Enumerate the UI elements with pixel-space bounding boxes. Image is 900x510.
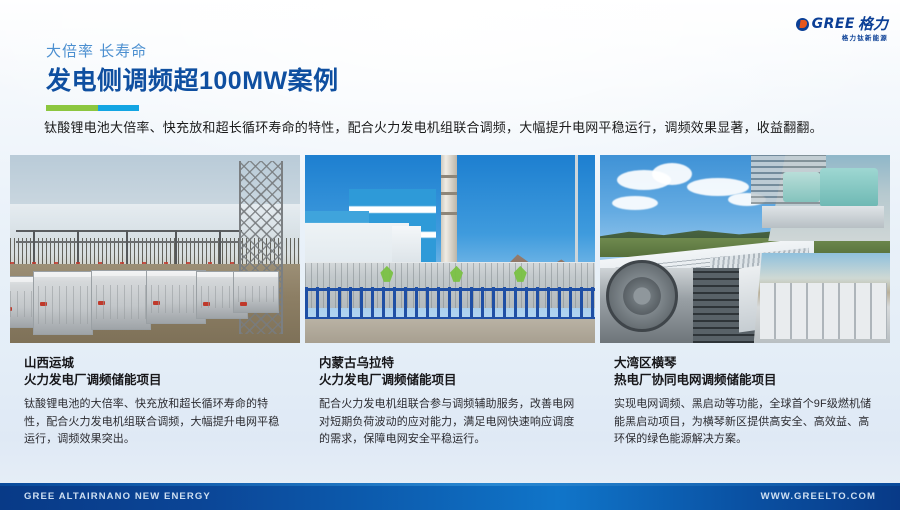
footer-company-name: GREE ALTAIRNANO NEW ENERGY xyxy=(24,491,211,502)
case-location: 大湾区横琴 xyxy=(614,355,876,372)
logo-subtitle: 格力钛新能源 xyxy=(842,36,888,43)
accent-bar-green xyxy=(46,105,98,111)
case-location: 山西运城 xyxy=(24,355,286,372)
case-description: 配合火力发电机组联合参与调频辅助服务，改善电网对短期负荷波动的应对能力，满足电网… xyxy=(319,396,581,449)
eyebrow-text: 大倍率 长寿命 xyxy=(46,44,339,59)
case-card[interactable]: 山西运城 火力发电厂调频储能项目 钛酸锂电池的大倍率、快充放和超长循环寿命的特性… xyxy=(10,155,300,460)
case-project-name: 火力发电厂调频储能项目 xyxy=(24,372,286,389)
gree-flame-icon xyxy=(796,18,809,31)
case-project-name: 火力发电厂调频储能项目 xyxy=(319,372,581,389)
case-card[interactable]: 大湾区横琴 热电厂协同电网调频储能项目 实现电网调频、黑启动等功能，全球首个9F… xyxy=(600,155,890,460)
case-card-row: 山西运城 火力发电厂调频储能项目 钛酸锂电池的大倍率、快充放和超长循环寿命的特性… xyxy=(10,155,890,460)
case-card-body: 大湾区横琴 热电厂协同电网调频储能项目 实现电网调频、黑启动等功能，全球首个9F… xyxy=(600,343,890,449)
logo-word: GREE xyxy=(812,17,855,31)
accent-bar-blue xyxy=(98,105,139,111)
case-location: 内蒙古乌拉特 xyxy=(319,355,581,372)
case-card-body: 山西运城 火力发电厂调频储能项目 钛酸锂电池的大倍率、快充放和超长循环寿命的特性… xyxy=(10,343,300,449)
logo-cn-mark: 格力 xyxy=(858,17,888,32)
logo-wordmark-row: GREE 格力 xyxy=(796,16,888,33)
case-card-body: 内蒙古乌拉特 火力发电厂调频储能项目 配合火力发电机组联合参与调频辅助服务，改善… xyxy=(305,343,595,449)
lead-paragraph: 钛酸锂电池大倍率、快充放和超长循环寿命的特性，配合火力发电机组联合调频，大幅提升… xyxy=(44,118,864,138)
gree-logo: GREE 格力 格力钛新能源 xyxy=(782,14,888,44)
case-project-name: 热电厂协同电网调频储能项目 xyxy=(614,372,876,389)
footer-website-url[interactable]: WWW.GREELTO.COM xyxy=(761,491,876,502)
footer-bar: GREE ALTAIRNANO NEW ENERGY WWW.GREELTO.C… xyxy=(0,483,900,510)
slide-root: GREE 格力 格力钛新能源 大倍率 长寿命 发电侧调频超100MW案例 钛酸锂… xyxy=(0,0,900,510)
case-description: 钛酸锂电池的大倍率、快充放和超长循环寿命的特性，配合火力发电机组联合调频，大幅提… xyxy=(24,396,286,449)
title-block: 大倍率 长寿命 发电侧调频超100MW案例 xyxy=(46,44,339,111)
inner-mongolia-wulate-plant-photo xyxy=(305,155,595,343)
case-card[interactable]: 内蒙古乌拉特 火力发电厂调频储能项目 配合火力发电机组联合参与调频辅助服务，改善… xyxy=(305,155,595,460)
case-description: 实现电网调频、黑启动等功能，全球首个9F级燃机储能黑启动项目，为横琴新区提供高安… xyxy=(614,396,876,449)
greater-bay-hengqin-collage-photo xyxy=(600,155,890,343)
page-title: 发电侧调频超100MW案例 xyxy=(46,68,339,94)
shanxi-yuncheng-substation-photo xyxy=(10,155,300,343)
accent-bar xyxy=(46,105,139,111)
